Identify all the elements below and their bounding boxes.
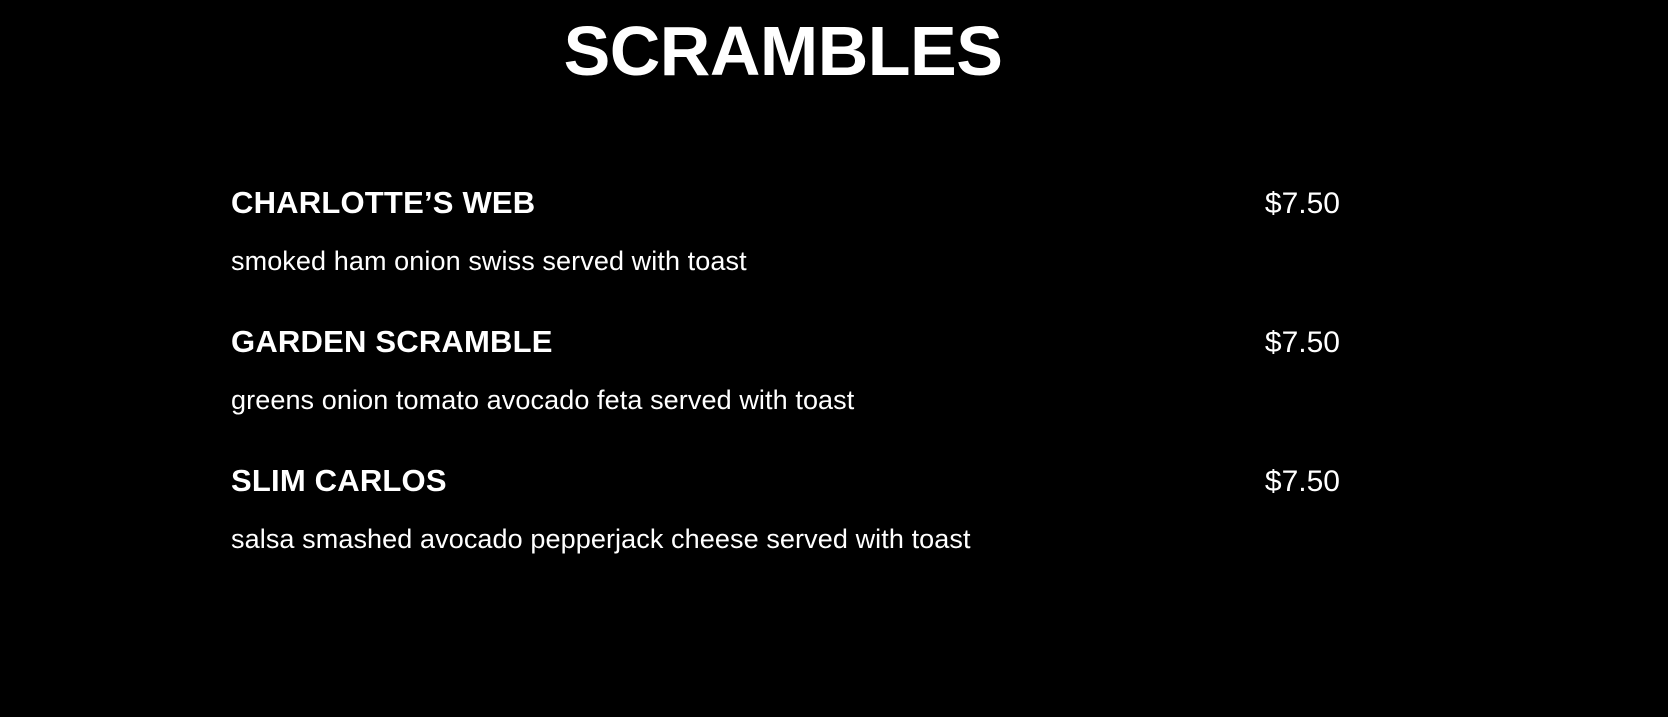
menu-item-price: $7.50: [1265, 323, 1340, 363]
menu-item: CHARLOTTE’S WEB $7.50 smoked ham onion s…: [231, 183, 1340, 278]
menu-item-description: salsa smashed avocado pepperjack cheese …: [231, 522, 1340, 556]
menu-page: SCRAMBLES CHARLOTTE’S WEB $7.50 smoked h…: [0, 0, 1668, 717]
menu-item-header: SLIM CARLOS $7.50: [231, 461, 1340, 502]
menu-item-name: GARDEN SCRAMBLE: [231, 322, 553, 362]
menu-item-header: CHARLOTTE’S WEB $7.50: [231, 183, 1340, 224]
menu-item-name: SLIM CARLOS: [231, 461, 447, 501]
menu-item-price: $7.50: [1265, 184, 1340, 224]
section-title: SCRAMBLES: [0, 8, 1566, 94]
menu-item-name: CHARLOTTE’S WEB: [231, 183, 535, 223]
menu-item: SLIM CARLOS $7.50 salsa smashed avocado …: [231, 461, 1340, 556]
menu-items-list: CHARLOTTE’S WEB $7.50 smoked ham onion s…: [231, 183, 1340, 556]
menu-item-header: GARDEN SCRAMBLE $7.50: [231, 322, 1340, 363]
menu-item-description: greens onion tomato avocado feta served …: [231, 383, 1340, 417]
menu-item: GARDEN SCRAMBLE $7.50 greens onion tomat…: [231, 322, 1340, 417]
menu-item-description: smoked ham onion swiss served with toast: [231, 244, 1340, 278]
menu-item-price: $7.50: [1265, 462, 1340, 502]
